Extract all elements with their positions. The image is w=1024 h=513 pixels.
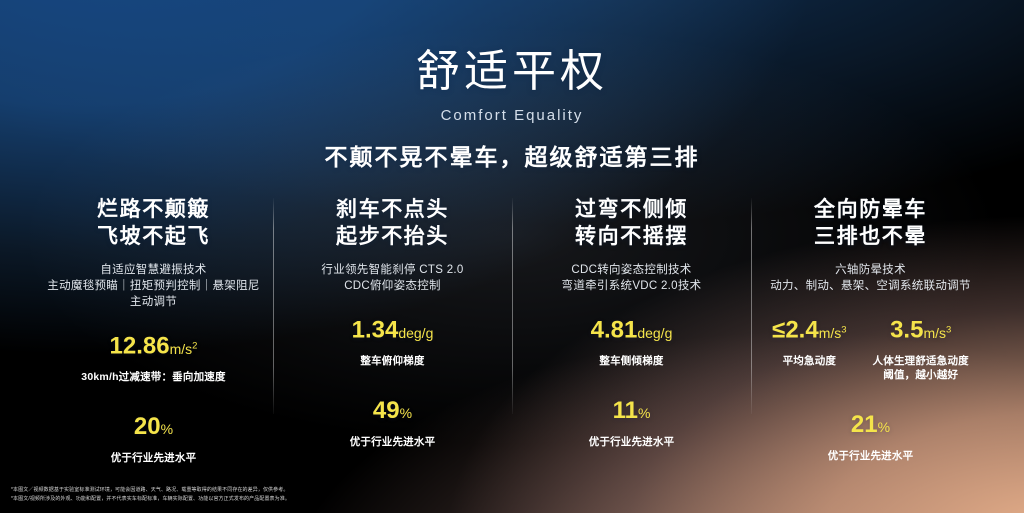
improvement-3-caption: 优于行业先进水平 <box>522 434 741 449</box>
feature-title-3-line1: 过弯不侧倾 <box>522 196 741 223</box>
feature-desc-1-line2: 主动魔毯预瞄｜扭矩预判控制｜悬架阻尼主动调节 <box>44 278 263 310</box>
feature-desc-3-line1: CDC转向姿态控制技术 <box>522 262 741 278</box>
improvement-4-caption: 优于行业先进水平 <box>761 448 980 463</box>
improvement-2-number: 49 <box>373 397 400 424</box>
metric-4-2-number: 3.5 <box>890 317 923 344</box>
improvement-2-unit: % <box>400 405 412 421</box>
page-title: 舒适平权 <box>0 46 1024 98</box>
metric-4-1: ≤2.4m/s3 平均急动度 <box>772 316 846 368</box>
feature-title-4-line1: 全向防晕车 <box>761 196 980 223</box>
improvement-4-unit: % <box>878 419 890 435</box>
feature-title-3-line2: 转向不摇摆 <box>522 223 741 250</box>
feature-title-2-line2: 起步不抬头 <box>283 223 502 250</box>
feature-metrics-1: 12.86m/s2 30km/h过减速带：垂向加速度 <box>44 332 263 384</box>
footnote-line-2: *本图文/视频所涉及的外观、功能和配置，并不代表实车标配标准，车辆实际配置、功能… <box>11 495 290 504</box>
metric-4-1-value: ≤2.4m/s3 <box>772 316 846 347</box>
tagline: 不颠不晃不晕车，超级舒适第三排 <box>0 138 1024 172</box>
metric-1-1-unit-exponent: 2 <box>192 340 197 351</box>
improvement-3-number: 11 <box>613 397 638 424</box>
improvement-4: 21% 优于行业先进水平 <box>761 411 980 463</box>
improvement-3-unit: % <box>638 405 650 421</box>
metric-4-2-unit-exponent: 3 <box>946 324 951 335</box>
improvement-1-caption: 优于行业先进水平 <box>44 450 263 465</box>
improvement-1-number: 20 <box>134 413 161 440</box>
improvement-1: 20% 优于行业先进水平 <box>44 413 263 465</box>
feature-title-1-line2: 飞坡不起飞 <box>44 223 263 250</box>
feature-title-4-line2: 三排也不晕 <box>761 223 980 250</box>
feature-desc-2: 行业领先智能刹停 CTS 2.0 CDC俯仰姿态控制 <box>283 262 502 294</box>
feature-desc-3: CDC转向姿态控制技术 弯道牵引系统VDC 2.0技术 <box>522 262 741 294</box>
metric-4-1-unit: m/s3 <box>819 325 847 341</box>
feature-title-2-line1: 刹车不点头 <box>283 196 502 223</box>
metric-2-1-unit: deg/g <box>398 325 433 341</box>
improvement-3-value: 11% <box>522 397 741 427</box>
metric-1-1: 12.86m/s2 30km/h过减速带：垂向加速度 <box>81 332 225 384</box>
feature-column-4: 全向防晕车 三排也不晕 六轴防晕技术 动力、制动、悬架、空调系统联动调节 ≤2.… <box>751 196 990 463</box>
feature-metrics-3: 4.81deg/g 整车侧倾梯度 <box>522 316 741 368</box>
improvement-2-caption: 优于行业先进水平 <box>283 434 502 449</box>
metric-3-1-unit: deg/g <box>637 325 672 341</box>
metric-4-2-unit-text: m/s <box>923 325 946 341</box>
feature-title-1: 烂路不颠簸 飞坡不起飞 <box>44 196 263 250</box>
metric-1-1-unit-text: m/s <box>170 341 193 357</box>
improvement-3: 11% 优于行业先进水平 <box>522 397 741 449</box>
feature-column-2: 刹车不点头 起步不抬头 行业领先智能刹停 CTS 2.0 CDC俯仰姿态控制 1… <box>273 196 512 449</box>
metric-2-1-value: 1.34deg/g <box>352 316 434 347</box>
page-subtitle-english: Comfort Equality <box>0 107 1024 124</box>
metric-1-1-value: 12.86m/s2 <box>81 332 225 363</box>
feature-metrics-2: 1.34deg/g 整车俯仰梯度 <box>283 316 502 368</box>
improvement-4-number: 21 <box>851 411 878 438</box>
header-block: 舒适平权 Comfort Equality <box>0 46 1024 124</box>
improvement-4-value: 21% <box>761 411 980 441</box>
metric-3-1-value: 4.81deg/g <box>591 316 673 347</box>
feature-desc-3-line2: 弯道牵引系统VDC 2.0技术 <box>522 278 741 294</box>
slide-root: 舒适平权 Comfort Equality 不颠不晃不晕车，超级舒适第三排 烂路… <box>0 0 1024 513</box>
feature-column-1: 烂路不颠簸 飞坡不起飞 自适应智慧避振技术 主动魔毯预瞄｜扭矩预判控制｜悬架阻尼… <box>34 196 273 465</box>
improvement-1-value: 20% <box>44 413 263 443</box>
feature-desc-2-line1: 行业领先智能刹停 CTS 2.0 <box>283 262 502 278</box>
feature-title-2: 刹车不点头 起步不抬头 <box>283 196 502 250</box>
metric-4-2-unit: m/s3 <box>923 325 951 341</box>
improvement-1-unit: % <box>161 421 173 437</box>
metric-4-1-unit-text: m/s <box>819 325 842 341</box>
feature-title-1-line1: 烂路不颠簸 <box>44 196 263 223</box>
improvement-2-value: 49% <box>283 397 502 427</box>
feature-desc-4: 六轴防晕技术 动力、制动、悬架、空调系统联动调节 <box>761 262 980 294</box>
metric-3-1-unit-text: deg/g <box>637 325 672 341</box>
metric-4-1-caption: 平均急动度 <box>772 354 846 368</box>
metric-4-1-number: ≤2.4 <box>772 317 819 344</box>
feature-desc-4-line1: 六轴防晕技术 <box>761 262 980 278</box>
feature-column-3: 过弯不侧倾 转向不摇摆 CDC转向姿态控制技术 弯道牵引系统VDC 2.0技术 … <box>512 196 751 449</box>
feature-desc-1: 自适应智慧避振技术 主动魔毯预瞄｜扭矩预判控制｜悬架阻尼主动调节 <box>44 262 263 310</box>
metric-1-1-caption: 30km/h过减速带：垂向加速度 <box>81 370 225 384</box>
metric-2-1-caption: 整车俯仰梯度 <box>352 354 434 368</box>
feature-title-3: 过弯不侧倾 转向不摇摆 <box>522 196 741 250</box>
footnote: *本图文／视频数据基于实验室标准测试环境，可能会因道路、天气、路况、载重等取得的… <box>11 486 290 503</box>
metric-3-1-caption: 整车侧倾梯度 <box>591 354 673 368</box>
footnote-line-1: *本图文／视频数据基于实验室标准测试环境，可能会因道路、天气、路况、载重等取得的… <box>11 486 290 495</box>
metric-3-1: 4.81deg/g 整车侧倾梯度 <box>591 316 673 368</box>
metric-4-1-unit-exponent: 3 <box>841 324 846 335</box>
metric-4-2-caption: 人体生理舒适急动度 阈值，越小越好 <box>873 354 969 382</box>
feature-desc-4-line2: 动力、制动、悬架、空调系统联动调节 <box>761 278 980 294</box>
metric-3-1-number: 4.81 <box>591 317 638 344</box>
metric-1-1-unit: m/s2 <box>170 341 198 357</box>
metric-4-2-value: 3.5m/s3 <box>873 316 969 347</box>
metric-4-2: 3.5m/s3 人体生理舒适急动度 阈值，越小越好 <box>873 316 969 382</box>
metric-2-1-unit-text: deg/g <box>398 325 433 341</box>
feature-desc-1-line1: 自适应智慧避振技术 <box>44 262 263 278</box>
feature-columns: 烂路不颠簸 飞坡不起飞 自适应智慧避振技术 主动魔毯预瞄｜扭矩预判控制｜悬架阻尼… <box>34 196 990 465</box>
improvement-2: 49% 优于行业先进水平 <box>283 397 502 449</box>
metric-2-1: 1.34deg/g 整车俯仰梯度 <box>352 316 434 368</box>
feature-metrics-4: ≤2.4m/s3 平均急动度 3.5m/s3 人体生理舒适急动度 阈值，越小越好 <box>761 316 980 382</box>
metric-1-1-number: 12.86 <box>110 333 170 360</box>
metric-2-1-number: 1.34 <box>352 317 399 344</box>
feature-desc-2-line2: CDC俯仰姿态控制 <box>283 278 502 294</box>
feature-title-4: 全向防晕车 三排也不晕 <box>761 196 980 250</box>
